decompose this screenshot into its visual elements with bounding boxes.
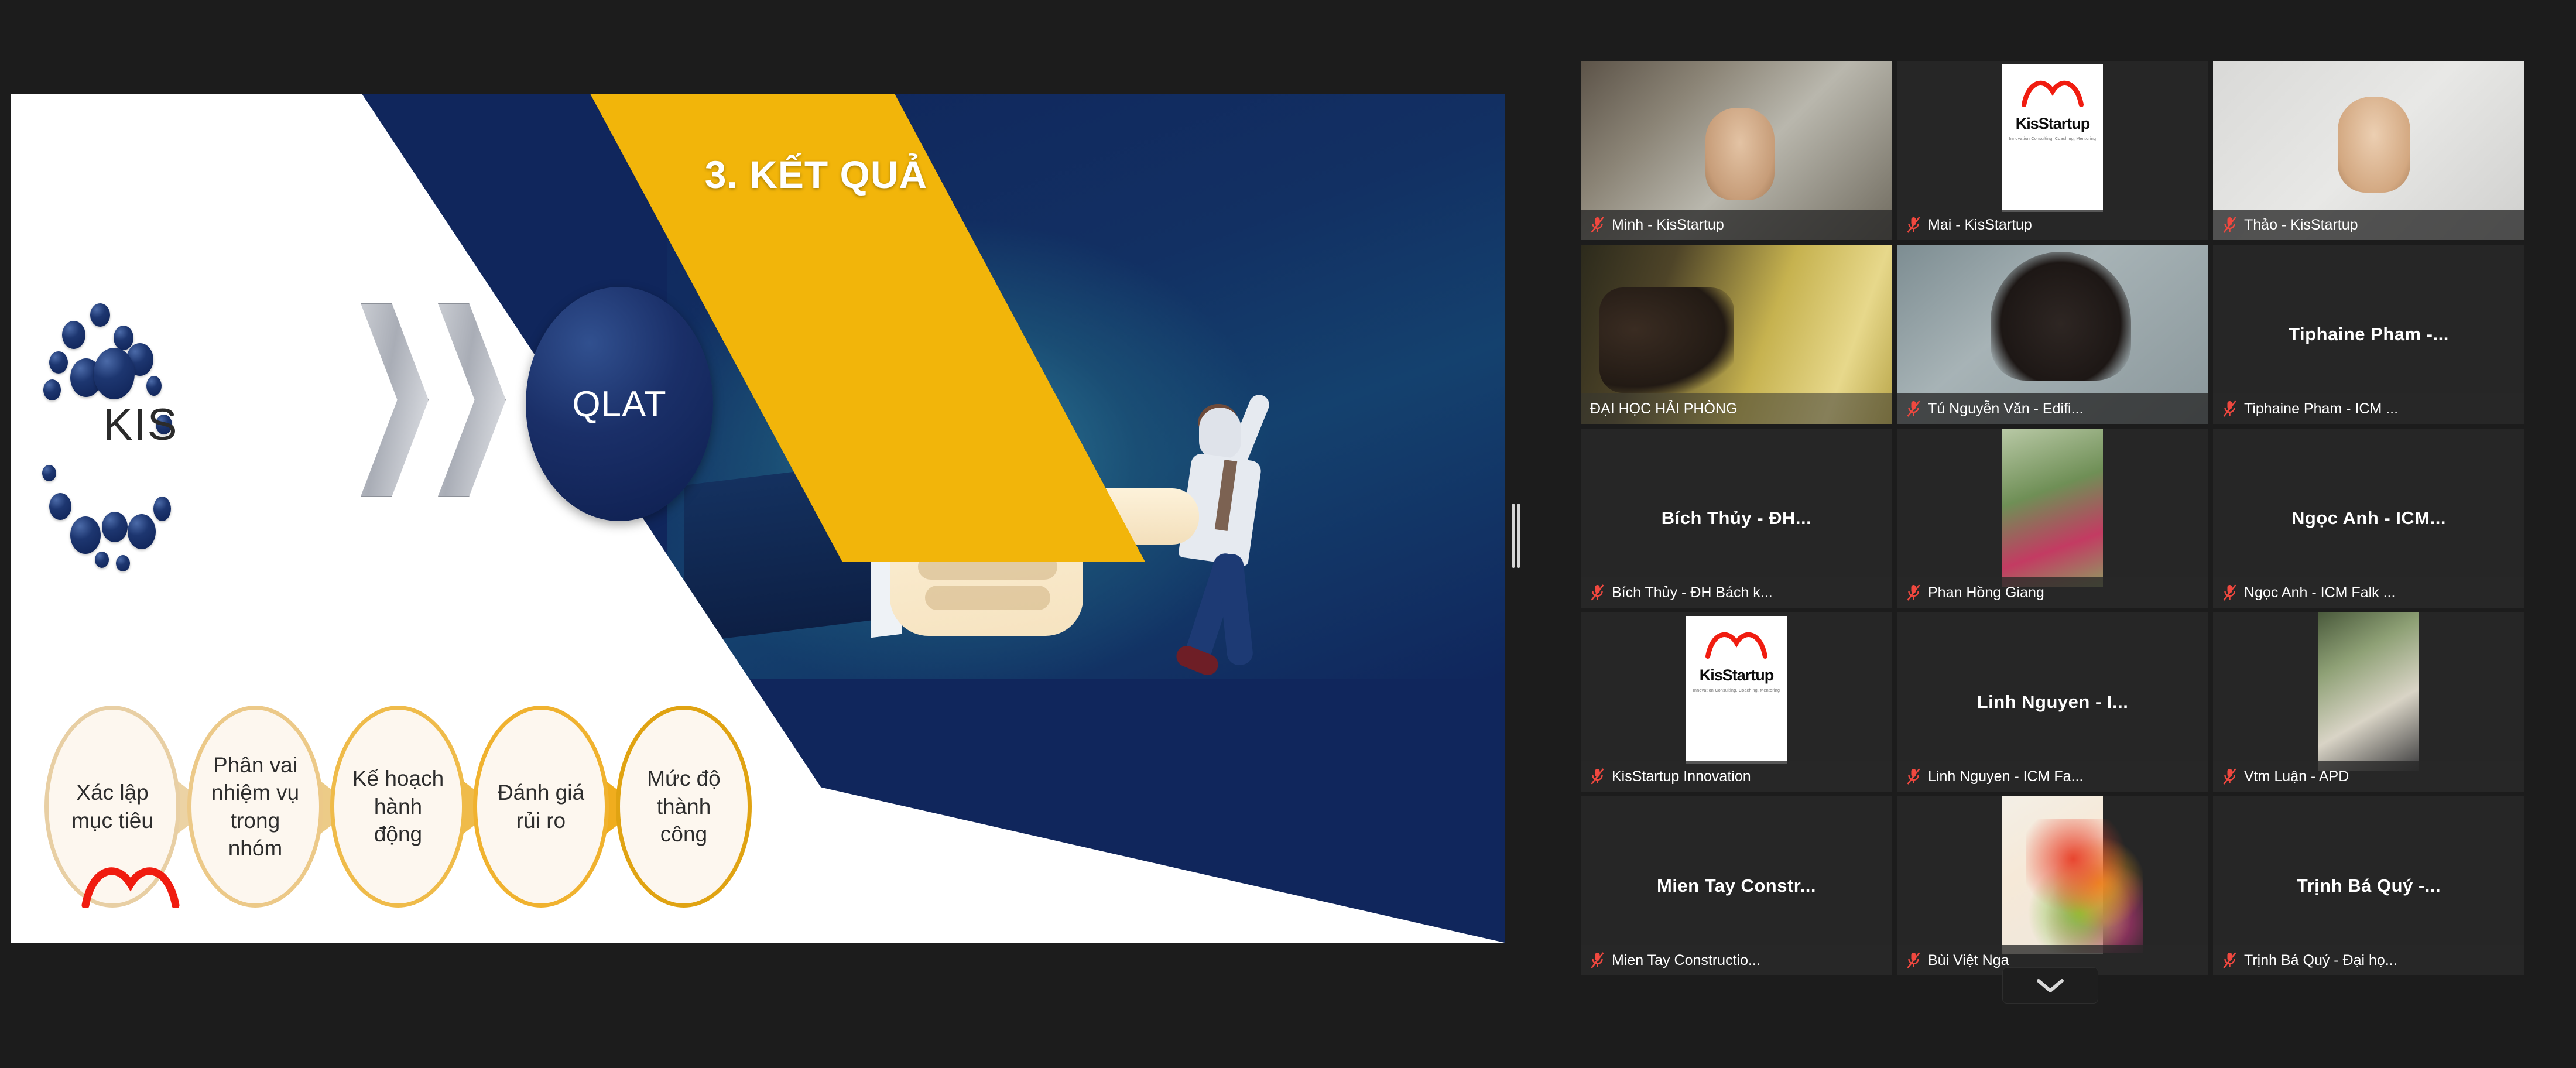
- participant-name: Thảo - KisStartup: [2244, 217, 2358, 234]
- participant-bigname: Linh Nguyen - I...: [1897, 692, 2208, 713]
- participant-namebar: Vtm Luận - APD: [2213, 761, 2524, 792]
- participant-tile[interactable]: Thảo - KisStartup: [2213, 61, 2524, 240]
- kisstartup-arc-icon: [2021, 75, 2084, 108]
- participant-name: Linh Nguyen - ICM Fa...: [1928, 768, 2083, 785]
- mic-muted-icon: [1906, 584, 1921, 601]
- participant-namebar: Thảo - KisStartup: [2213, 210, 2524, 240]
- participant-tile[interactable]: Trịnh Bá Quý -... Trịnh Bá Quý - Đại họ.…: [2213, 796, 2524, 975]
- participant-tile[interactable]: Vtm Luận - APD: [2213, 612, 2524, 792]
- participant-name: Tiphaine Pham - ICM ...: [2244, 400, 2398, 417]
- participant-tile[interactable]: Tú Nguyễn Văn - Edifi...: [1897, 245, 2208, 424]
- participant-tile[interactable]: Linh Nguyen - I... Linh Nguyen - ICM Fa.…: [1897, 612, 2208, 792]
- participant-namebar: Minh - KisStartup: [1581, 210, 1892, 240]
- participant-namebar: Tiphaine Pham - ICM ...: [2213, 393, 2524, 424]
- participant-avatar: [2002, 796, 2103, 954]
- participant-tile[interactable]: Phan Hồng Giang: [1897, 429, 2208, 608]
- mic-muted-icon: [2222, 584, 2237, 601]
- process-step-4: Đánh giá rủi ro: [473, 706, 609, 908]
- qlat-oval: QLAT: [526, 287, 713, 521]
- participant-namebar: Mai - KisStartup: [1897, 210, 2208, 240]
- participant-namebar: Phan Hồng Giang: [1897, 577, 2208, 608]
- shared-screen-region[interactable]: BRAND 3: [0, 0, 1505, 1068]
- participant-tile[interactable]: Mien Tay Constr... Mien Tay Constructio.…: [1581, 796, 1892, 975]
- participant-tile[interactable]: Ngọc Anh - ICM... Ngọc Anh - ICM Falk ..…: [2213, 429, 2524, 608]
- mic-muted-icon: [1590, 951, 1605, 969]
- participant-gallery: Minh - KisStartup KisStartup Innovation …: [1525, 0, 2576, 1068]
- participant-logo-avatar: KisStartup Innovation Consulting, Coachi…: [2002, 64, 2103, 212]
- kis-bubble-cluster: KIS: [34, 287, 362, 533]
- participant-bigname: Tiphaine Pham -...: [2213, 324, 2524, 345]
- participant-name: ĐẠI HỌC HẢI PHÒNG: [1590, 400, 1737, 417]
- mic-muted-icon: [1906, 951, 1921, 969]
- process-step-3: Kế hoạch hành động: [330, 706, 466, 908]
- participant-name: Bích Thủy - ĐH Bách k...: [1612, 584, 1773, 601]
- participant-bigname: Mien Tay Constr...: [1581, 875, 1892, 896]
- participant-tile[interactable]: Bích Thủy - ĐH... Bích Thủy - ĐH Bách k.…: [1581, 429, 1892, 608]
- participant-tile[interactable]: Tiphaine Pham -... Tiphaine Pham - ICM .…: [2213, 245, 2524, 424]
- mic-muted-icon: [2222, 216, 2237, 234]
- kisstartup-arc-icon: [1705, 627, 1768, 659]
- participant-name: Minh - KisStartup: [1612, 217, 1724, 234]
- drag-handle-icon[interactable]: [1510, 501, 1521, 570]
- participant-tile[interactable]: KisStartup Innovation Consulting, Coachi…: [1581, 612, 1892, 792]
- presentation-slide: BRAND 3: [11, 94, 1505, 943]
- mic-muted-icon: [1590, 216, 1605, 234]
- mic-muted-icon: [2222, 768, 2237, 785]
- participant-namebar: Mien Tay Constructio...: [1581, 945, 1892, 975]
- participant-name: Tú Nguyễn Văn - Edifi...: [1928, 400, 2083, 417]
- slide-title: 3. KẾT QUẢ: [11, 152, 1505, 197]
- process-step-5: Mức độ thành công: [616, 706, 752, 908]
- participant-logo-avatar: KisStartup Innovation Consulting, Coachi…: [1686, 616, 1787, 764]
- participant-name: Ngọc Anh - ICM Falk ...: [2244, 584, 2395, 601]
- mic-muted-icon: [2222, 951, 2237, 969]
- participant-namebar: KisStartup Innovation: [1581, 761, 1892, 792]
- participant-name: KisStartup Innovation: [1612, 768, 1751, 785]
- participant-namebar: Tú Nguyễn Văn - Edifi...: [1897, 393, 2208, 424]
- mic-muted-icon: [1590, 584, 1605, 601]
- participant-name: Trịnh Bá Quý - Đại họ...: [2244, 952, 2397, 969]
- participant-tile[interactable]: Bùi Việt Nga: [1897, 796, 2208, 975]
- chevron-down-icon: [2034, 975, 2067, 995]
- scroll-down-button[interactable]: [2002, 967, 2098, 1004]
- qlat-label: QLAT: [572, 384, 666, 425]
- participant-namebar: ĐẠI HỌC HẢI PHÒNG: [1581, 393, 1892, 424]
- mic-muted-icon: [1906, 400, 1921, 417]
- participant-name: Phan Hồng Giang: [1928, 584, 2044, 601]
- participant-namebar: Bích Thủy - ĐH Bách k...: [1581, 577, 1892, 608]
- mic-muted-icon: [1906, 768, 1921, 785]
- participant-tile[interactable]: Minh - KisStartup: [1581, 61, 1892, 240]
- participant-name: Vtm Luận - APD: [2244, 768, 2349, 785]
- participant-name: Mai - KisStartup: [1928, 217, 2032, 234]
- participant-bigname: Trịnh Bá Quý -...: [2213, 875, 2524, 896]
- kisstartup-logo: KisStartup Innovation Consulting, Coachi…: [54, 861, 265, 943]
- kisstartup-arc-icon: [81, 861, 180, 908]
- participant-name: Bùi Việt Nga: [1928, 952, 2009, 969]
- mic-muted-icon: [1590, 768, 1605, 785]
- logo-name: KisStartup: [54, 904, 208, 940]
- participant-namebar: Ngọc Anh - ICM Falk ...: [2213, 577, 2524, 608]
- participant-tile[interactable]: KisStartup Innovation Consulting, Coachi…: [1897, 61, 2208, 240]
- mic-muted-icon: [1906, 216, 1921, 234]
- participant-grid: Minh - KisStartup KisStartup Innovation …: [1581, 61, 2524, 975]
- mic-muted-icon: [2222, 400, 2237, 417]
- participant-bigname: Ngọc Anh - ICM...: [2213, 508, 2524, 529]
- participant-tile[interactable]: ĐẠI HỌC HẢI PHÒNG: [1581, 245, 1892, 424]
- participant-name: Mien Tay Constructio...: [1612, 952, 1760, 969]
- participant-namebar: Linh Nguyen - ICM Fa...: [1897, 761, 2208, 792]
- meeting-window: BRAND 3: [0, 0, 2576, 1068]
- participant-avatar: [2318, 612, 2419, 771]
- kis-label: KIS: [103, 399, 179, 450]
- participant-namebar: Trịnh Bá Quý - Đại họ...: [2213, 945, 2524, 975]
- participant-bigname: Bích Thủy - ĐH...: [1581, 508, 1892, 529]
- participant-avatar: [2002, 429, 2103, 587]
